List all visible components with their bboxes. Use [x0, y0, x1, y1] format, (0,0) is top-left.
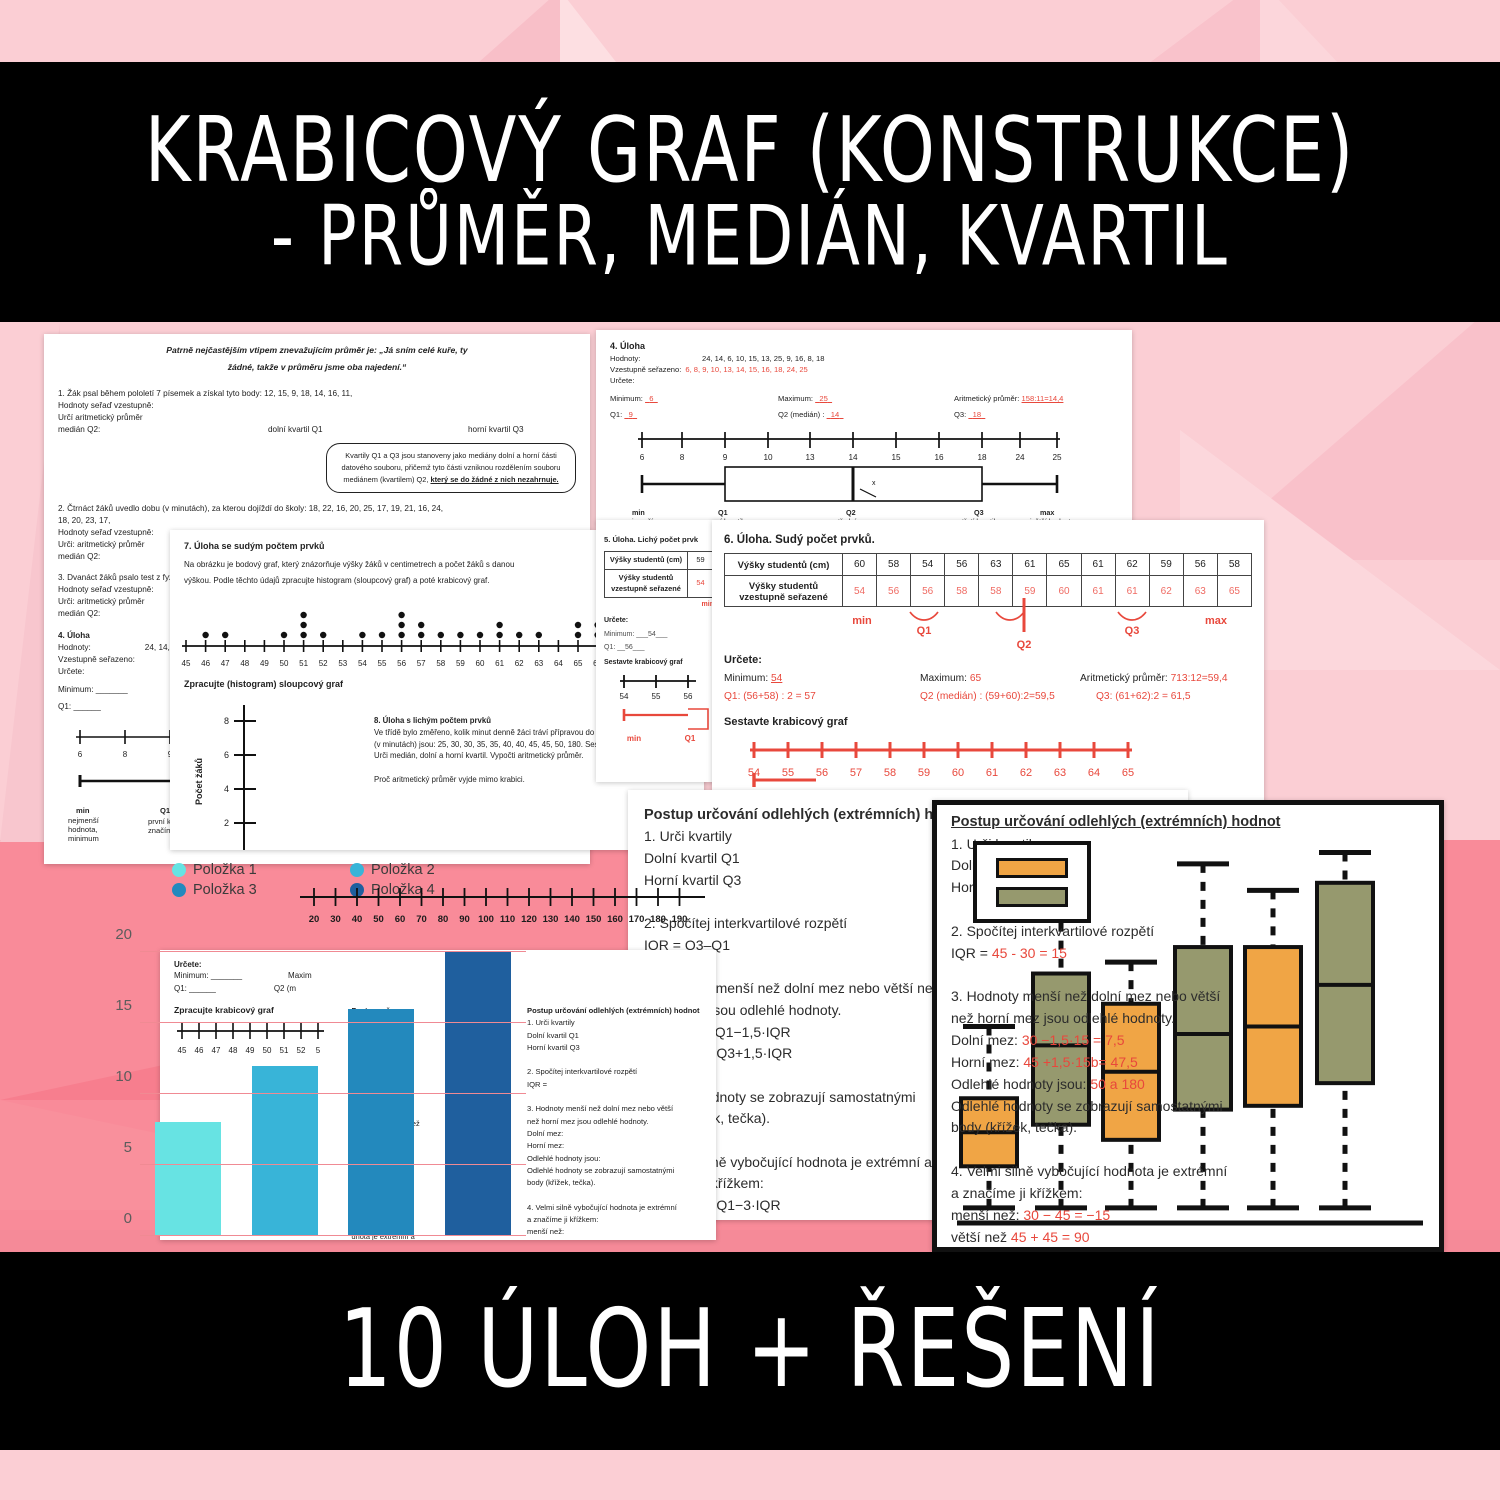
- sheet-e-max-label: Maximum:: [920, 673, 967, 684]
- text-line: [951, 1139, 1429, 1161]
- footer-banner: 10 ÚLOH + ŘEŠENÍ: [0, 1252, 1500, 1450]
- svg-text:15: 15: [891, 453, 901, 462]
- cell: 54: [911, 554, 945, 576]
- sheet-b-q1-label: Q1:: [610, 410, 622, 419]
- svg-text:30: 30: [330, 914, 341, 925]
- text-line: Dolní mez:: [527, 1128, 702, 1140]
- svg-text:100: 100: [478, 914, 494, 925]
- sheet-d-row1-label: Výšky studentů (cm): [605, 552, 688, 570]
- cell: 58: [877, 554, 911, 576]
- svg-text:Q1: Q1: [718, 508, 728, 517]
- svg-text:minimum: minimum: [68, 834, 99, 843]
- text-line: větší než: [527, 1239, 702, 1240]
- mark-max: max: [1205, 615, 1228, 627]
- boxplot-figure-panel: Postup určování odlehlých (extrémních) h…: [932, 800, 1444, 1252]
- svg-text:8: 8: [123, 750, 128, 759]
- text-line: IQR =: [527, 1079, 702, 1091]
- svg-text:59: 59: [918, 767, 930, 779]
- worksheet-sheet-d-task5: 5. Úloha. Lichý počet prvk Výšky student…: [596, 520, 722, 782]
- task8-line4: Proč aritmetický průměr vyjde mimo krabi…: [374, 774, 632, 786]
- quartile-note-bold: který se do žádné z nich nezahrnuje.: [430, 475, 558, 484]
- text-line: menší než: 30 − 45 = −15: [951, 1205, 1429, 1227]
- cell: 58: [1217, 554, 1251, 576]
- sheet-e-q3-line: Q3: (61+62):2 = 61,5: [1096, 691, 1191, 702]
- svg-text:190: 190: [672, 914, 688, 925]
- task8-line3: Urči medián, dolní a horní kvartil. Vypo…: [374, 750, 632, 762]
- sheet-e-row2-label: Výšky studentů vzestupně seřazené: [725, 576, 843, 607]
- text-line: Odlehlé hodnoty se zobrazují samostatným…: [951, 1096, 1429, 1118]
- sheet-d-minimum: Minimum: ___54___: [604, 630, 714, 640]
- sheet-b-mean: 158:11=14,4: [1022, 394, 1064, 403]
- legend-dot-icon: [172, 863, 186, 877]
- table-row: Výšky studentů vzestupně seřazené 54 56 …: [725, 576, 1252, 607]
- sheet-b-min: 6: [649, 394, 653, 403]
- svg-text:max: max: [1040, 508, 1054, 517]
- cover-title-line2: - PRŮMĚR, MEDIÁN, KVARTIL: [271, 195, 1229, 279]
- svg-text:51: 51: [299, 659, 308, 668]
- svg-text:80: 80: [438, 914, 449, 925]
- cell: 61: [1115, 576, 1149, 607]
- svg-text:65: 65: [1122, 767, 1134, 779]
- svg-text:min: min: [627, 734, 641, 743]
- text-line: Horní mez: 45 +1,5·15b= 47,5: [951, 1052, 1429, 1074]
- text-line: 4. Velmi silně vybočující hodnota je ext…: [951, 1161, 1429, 1183]
- svg-text:4: 4: [224, 784, 229, 794]
- svg-text:x: x: [872, 480, 876, 487]
- svg-text:56: 56: [816, 767, 828, 779]
- sheet-b-q3: 18: [973, 410, 981, 419]
- mark-q3: Q3: [1125, 625, 1140, 637]
- cell: 61: [1013, 554, 1047, 576]
- text-line: [527, 1189, 702, 1201]
- cell: 56: [877, 576, 911, 607]
- svg-text:nejmenší: nejmenší: [68, 816, 100, 825]
- svg-text:170: 170: [629, 914, 645, 925]
- task1-q3: horní kvartil Q3: [468, 424, 524, 436]
- cell: 56: [911, 576, 945, 607]
- text-line: 1. Urči kvartily: [527, 1017, 702, 1029]
- svg-text:16: 16: [934, 453, 944, 462]
- svg-text:min: min: [632, 508, 645, 517]
- sheet-b-max-label: Maximum:: [778, 394, 813, 403]
- svg-text:60: 60: [395, 914, 406, 925]
- text-line: 3. Hodnoty menší než dolní mez nebo větš…: [527, 1103, 702, 1115]
- sheet-a-intro-line1: Patrně nejčastějším vtipem znevažujícím …: [166, 345, 467, 355]
- text-line: [527, 1054, 702, 1066]
- text-line: než horní mez jsou odlehlé hodnoty.: [527, 1116, 702, 1128]
- svg-text:90: 90: [459, 914, 470, 925]
- gridline: [140, 951, 526, 952]
- sheet-e-min: 54: [771, 673, 782, 684]
- sheet-e-number-line: 545556575859606162636465: [744, 734, 1164, 798]
- task1-line4: medián Q2:: [58, 424, 178, 436]
- text-line: Dolní kvartil Q1: [527, 1030, 702, 1042]
- sheet-b-max: 25: [819, 394, 827, 403]
- sheet-e-q1-line: Q1: (56+58) : 2 = 57: [724, 691, 920, 702]
- sheet-d-row2-label: Výšky studentů vzestupně seřazené: [605, 569, 688, 597]
- svg-text:45: 45: [182, 659, 191, 668]
- task2-line2: 18, 20, 23, 17,: [58, 515, 576, 527]
- svg-text:53: 53: [338, 659, 347, 668]
- svg-text:58: 58: [436, 659, 445, 668]
- sheet-b-values-label: Hodnoty:: [610, 353, 702, 364]
- legend-item[interactable]: Položka 2: [350, 862, 502, 878]
- svg-text:49: 49: [260, 659, 269, 668]
- task4-values-label: Hodnoty:: [58, 642, 91, 654]
- svg-text:56: 56: [684, 692, 693, 701]
- text-line: Odlehlé hodnoty jsou: 50 a 180: [951, 1074, 1429, 1096]
- task1-line2: Hodnoty seřaď vzestupně:: [58, 400, 576, 412]
- sheet-a-task1: 1. Žák psal během pololetí 7 písemek a z…: [58, 388, 576, 436]
- svg-text:55: 55: [652, 692, 661, 701]
- svg-text:62: 62: [515, 659, 524, 668]
- chart-plot-area: Položka 1Položka 2Položka 3Položka 4 051…: [140, 938, 526, 1236]
- svg-text:13: 13: [805, 453, 815, 462]
- gridline: [140, 1093, 526, 1094]
- svg-text:140: 140: [564, 914, 580, 925]
- text-line: 4. Velmi silně vybočující hodnota je ext…: [527, 1202, 702, 1214]
- svg-text:63: 63: [534, 659, 543, 668]
- text-line: IQR = 45 - 30 = 15: [951, 943, 1429, 965]
- svg-text:10: 10: [763, 453, 773, 462]
- svg-text:130: 130: [543, 914, 559, 925]
- svg-text:64: 64: [554, 659, 563, 668]
- sheet-g-title: Postup určování odlehlých (extrémních) h…: [644, 807, 974, 823]
- sheet-e-mean-label: Aritmetický průměr:: [1080, 673, 1168, 684]
- svg-text:47: 47: [221, 659, 230, 668]
- svg-text:58: 58: [884, 767, 896, 779]
- text-line: než horní mez jsou odlehlé hodnoty.: [951, 1008, 1429, 1030]
- svg-text:min: min: [76, 806, 90, 815]
- text-line: Horní kvartil Q3: [527, 1042, 702, 1054]
- svg-text:52: 52: [319, 659, 328, 668]
- cell: 63: [979, 554, 1013, 576]
- svg-text:Počet žáků: Počet žáků: [194, 758, 204, 805]
- svg-text:6: 6: [224, 750, 229, 760]
- y-axis-label: 20: [98, 926, 132, 943]
- y-axis-label: 5: [98, 1139, 132, 1156]
- text-line: body (křížek, tečka).: [527, 1177, 702, 1189]
- cell: 59: [1013, 576, 1047, 607]
- sheet-b-q2-label: Q2 (medián) :: [778, 410, 824, 419]
- cell: 61: [1081, 576, 1115, 607]
- cover-canvas: KRABICOVÝ GRAF (KONSTRUKCE) - PRŮMĚR, ME…: [0, 0, 1500, 1500]
- svg-text:14: 14: [848, 453, 858, 462]
- text-line: [951, 965, 1429, 987]
- text-line: 3. Hodnoty menší než dolní mez nebo větš…: [951, 986, 1429, 1008]
- boxplot-legend: [973, 841, 1091, 923]
- sheet-b-title: 4. Úloha: [610, 341, 645, 351]
- svg-text:48: 48: [240, 659, 249, 668]
- sheet-b-boxplot-figure: 689 101314 151618 2425: [610, 427, 1110, 526]
- cell: 58: [945, 576, 979, 607]
- svg-text:120: 120: [521, 914, 537, 925]
- text-line: 2. Spočítej interkvartilové rozpětí: [527, 1066, 702, 1078]
- cover-footer: 10 ÚLOH + ŘEŠENÍ: [339, 1296, 1162, 1406]
- legend-dot-icon: [172, 883, 186, 897]
- sheet-b-q2: 14: [831, 410, 839, 419]
- svg-text:24: 24: [1015, 453, 1025, 462]
- svg-text:110: 110: [500, 914, 515, 925]
- svg-text:70: 70: [416, 914, 427, 925]
- svg-text:180: 180: [650, 914, 666, 925]
- text-line: Odlehlé hodnoty jsou:: [527, 1153, 702, 1165]
- svg-text:46: 46: [201, 659, 210, 668]
- svg-text:55: 55: [782, 767, 794, 779]
- svg-text:hodnota,: hodnota,: [68, 825, 98, 834]
- sheet-d-boxplot-figure: 545556 minQ1: [604, 671, 708, 745]
- task3-line4: medián Q2:: [58, 608, 100, 620]
- legend-label: Položka 1: [193, 862, 257, 878]
- cell: 59: [1149, 554, 1183, 576]
- sheet-d-row1-value: 59: [688, 552, 714, 570]
- y-axis-label: 15: [98, 997, 132, 1014]
- sheet-d-q1: Q1: __56___: [604, 643, 714, 653]
- legend-item[interactable]: Položka 1: [172, 862, 324, 878]
- svg-text:Q3: Q3: [974, 508, 984, 517]
- svg-text:20: 20: [309, 914, 320, 925]
- svg-text:54: 54: [620, 692, 629, 701]
- cell: 60: [1047, 576, 1081, 607]
- cell: 65: [1217, 576, 1251, 607]
- svg-text:160: 160: [607, 914, 623, 925]
- mark-min: min: [852, 615, 872, 627]
- bar[interactable]: [252, 1066, 318, 1236]
- svg-text:62: 62: [1020, 767, 1032, 779]
- text-line: [527, 1091, 702, 1103]
- cell: 63: [1183, 576, 1217, 607]
- svg-text:150: 150: [586, 914, 602, 925]
- text-line: menší než:: [527, 1226, 702, 1238]
- sheet-b-min-label: Minimum:: [610, 394, 643, 403]
- svg-text:6: 6: [640, 453, 645, 462]
- gridline: [140, 1022, 526, 1023]
- svg-text:18: 18: [977, 453, 987, 462]
- svg-text:61: 61: [495, 659, 504, 668]
- histogram-axes: 86 42 Počet žáků 45 -4950 -5: [184, 695, 364, 850]
- sheet-d-title: 5. Úloha. Lichý počet prvk: [604, 535, 698, 544]
- task4-title: 4. Úloha: [58, 630, 90, 642]
- long-number-line: 2030405060708090100110120130140150160170…: [300, 885, 710, 925]
- bar[interactable]: [155, 1122, 221, 1236]
- svg-text:8: 8: [680, 453, 685, 462]
- svg-text:63: 63: [1054, 767, 1066, 779]
- text-line: body (křížek, tečka).: [951, 1117, 1429, 1139]
- sheet-b-sorted-label: Vzestupně seřazeno:: [610, 364, 681, 375]
- mark-q1: Q1: [917, 625, 932, 637]
- svg-text:55: 55: [378, 659, 387, 668]
- cell: 58: [979, 576, 1013, 607]
- svg-text:60: 60: [476, 659, 485, 668]
- text-line: větší než 45 + 45 = 90: [951, 1227, 1429, 1249]
- legend-label: Položka 3: [193, 882, 257, 898]
- svg-text:57: 57: [417, 659, 426, 668]
- svg-text:2: 2: [224, 818, 229, 828]
- cell: 61: [1081, 554, 1115, 576]
- cover-title-line1: KRABICOVÝ GRAF (KONSTRUKCE): [145, 104, 1355, 196]
- sheet-e-max: 65: [970, 673, 981, 684]
- text-line: Dolní mez: 30 −1,5·15 = 7,5: [951, 1030, 1429, 1052]
- sheet-e-min-label: Minimum:: [724, 673, 768, 684]
- svg-text:Q1: Q1: [685, 734, 696, 743]
- svg-text:65: 65: [574, 659, 583, 668]
- task1-line3: Určí aritmetický průměr: [58, 412, 576, 424]
- svg-text:50: 50: [373, 914, 384, 925]
- sheet-d-determine: Určete:: [604, 616, 714, 626]
- sheet-b-values: 24, 14, 6, 10, 15, 13, 25, 9, 16, 8, 18: [702, 353, 824, 364]
- legend-swatch-orange: [996, 858, 1068, 878]
- sheet-f-panel-right-title: Postup určování odlehlých (extrémních) h…: [527, 1006, 700, 1015]
- svg-text:Q2: Q2: [846, 508, 856, 517]
- sheet-d-row2-value: 54: [688, 569, 714, 597]
- svg-text:59: 59: [456, 659, 465, 668]
- quartile-brace-markers: min Q1 Q2 Q3 max: [724, 608, 1252, 652]
- svg-text:6: 6: [78, 750, 83, 759]
- svg-text:61: 61: [986, 767, 998, 779]
- title-banner: KRABICOVÝ GRAF (KONSTRUKCE) - PRŮMĚR, ME…: [0, 62, 1500, 322]
- svg-text:57: 57: [850, 767, 862, 779]
- table-row: Výšky studentů (cm) 60 58 54 56 63 61 65…: [725, 554, 1252, 576]
- svg-text:60: 60: [952, 767, 964, 779]
- y-axis-label: 10: [98, 1068, 132, 1085]
- gridline: [140, 1164, 526, 1165]
- sheet-d-min-mark: min: [604, 600, 714, 610]
- task8-line2: (v minutách) jsou: 25, 30, 30, 35, 35, 4…: [374, 739, 632, 751]
- text-line: a značíme ji křížkem:: [527, 1214, 702, 1226]
- cell: 62: [1115, 554, 1149, 576]
- text-line: Odlehlé hodnoty se zobrazují samostatným…: [527, 1165, 702, 1177]
- cell: 56: [1183, 554, 1217, 576]
- svg-text:8: 8: [224, 716, 229, 726]
- svg-text:64: 64: [1088, 767, 1100, 779]
- sheet-e-determine: Určete:: [724, 654, 1252, 666]
- bar[interactable]: [348, 1009, 414, 1236]
- worksheet-sheet-b-task4: 4. Úloha Hodnoty: 24, 14, 6, 10, 15, 13,…: [596, 330, 1132, 526]
- task1-line1: 1. Žák psal během pololetí 7 písemek a z…: [58, 388, 576, 400]
- sheet-b-q1: 9: [629, 410, 633, 419]
- sheet-e-q2-line: Q2 (medián) : (59+60):2=59,5: [920, 691, 1096, 702]
- sheet-a-intro-line2: žádné, takže v průměru jsme oba najedení…: [228, 362, 407, 372]
- legend-swatch-olive: [996, 887, 1068, 907]
- text-line: Horní mez:: [527, 1140, 702, 1152]
- task2-line1: 2. Čtrnáct žáků uvedlo dobu (v minutách)…: [58, 503, 576, 515]
- sheet-e-build: Sestavte krabicový graf: [724, 716, 1252, 728]
- cell: 62: [1149, 576, 1183, 607]
- task8-title: 8. Úloha s lichým počtem prvků: [374, 716, 491, 725]
- legend-label: Položka 2: [371, 862, 435, 878]
- legend-dot-icon: [350, 863, 364, 877]
- quartile-note-box: Kvartily Q1 a Q3 jsou stanoveny jako med…: [326, 443, 576, 493]
- svg-text:9: 9: [723, 453, 728, 462]
- cell: 60: [843, 554, 877, 576]
- text-line: a značíme ji křížkem:: [951, 1183, 1429, 1205]
- text-line: 2. Spočítej interkvartilové rozpětí: [951, 921, 1429, 943]
- mark-q2: Q2: [1017, 639, 1032, 651]
- y-axis-label: 0: [98, 1210, 132, 1227]
- sheet-e-title: 6. Úloha. Sudý počet prvků.: [724, 534, 875, 546]
- svg-text:25: 25: [1052, 453, 1062, 462]
- cell: 65: [1047, 554, 1081, 576]
- task1-q1: dolní kvartil Q1: [268, 424, 378, 436]
- sheet-b-q3-label: Q3:: [954, 410, 966, 419]
- sheet-b-determine: Určete:: [610, 375, 1118, 386]
- cell: 54: [843, 576, 877, 607]
- heights-table: Výšky studentů (cm) 60 58 54 56 63 61 65…: [724, 553, 1252, 607]
- sheet-d-build: Sestavte krabicový graf: [604, 658, 714, 668]
- sheet-b-mean-label: Aritmetický průměr:: [954, 394, 1019, 403]
- gridline: [140, 1235, 526, 1236]
- svg-text:54: 54: [358, 659, 367, 668]
- sheet-e-row1-label: Výšky studentů (cm): [725, 554, 843, 576]
- svg-text:40: 40: [352, 914, 363, 925]
- sheet-c-title: 7. Úloha se sudým počtem prvků: [184, 541, 325, 551]
- sheet-h-title: Postup určování odlehlých (extrémních) h…: [951, 814, 1281, 830]
- task8-line1: Ve třídě bylo změřeno, kolik minut denně…: [374, 727, 632, 739]
- sheet-e-mean: 713:12=59,4: [1171, 673, 1228, 684]
- chart-bars: [140, 938, 526, 1236]
- sheet-b-sorted: 6, 8, 9, 10, 13, 14, 15, 16, 18, 24, 25: [685, 364, 807, 375]
- svg-text:50: 50: [280, 659, 289, 668]
- svg-text:56: 56: [397, 659, 406, 668]
- cell: 56: [945, 554, 979, 576]
